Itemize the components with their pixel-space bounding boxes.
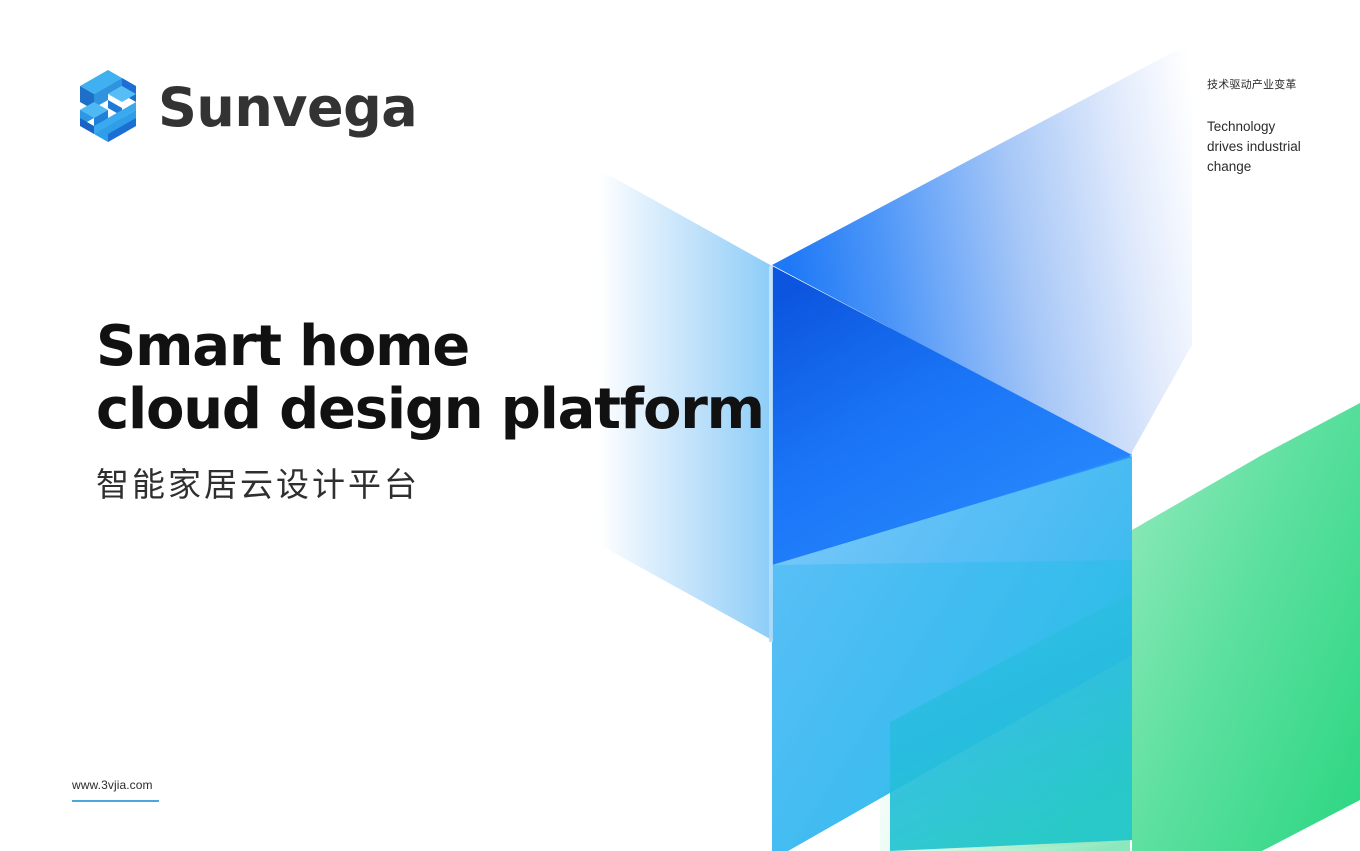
iso-panel-bottom-mint — [900, 840, 1130, 851]
iso-face-cyan-body — [890, 592, 1132, 851]
page-subtitle: 智能家居云设计平台 — [96, 465, 796, 505]
iso-panel-upper-right — [772, 42, 1192, 457]
iso-face-bright-blue — [772, 266, 1132, 851]
brand-logo[interactable]: Sunvega — [72, 66, 417, 146]
footer-url[interactable]: www.3vjia.com — [72, 778, 159, 802]
tagline-chinese: 技术驱动产业变革 — [1207, 78, 1347, 93]
iso-panel-bottom-mint-main — [880, 655, 1132, 851]
iso-face-cyan-top — [772, 560, 1132, 851]
sunvega-logo-icon — [72, 66, 144, 146]
tagline-block: 技术驱动产业变革 Technology drives industrial ch… — [1207, 78, 1347, 176]
brand-name: Sunvega — [158, 81, 417, 135]
tagline-english: Technology drives industrial change — [1207, 117, 1347, 176]
iso-panel-right-green — [1132, 403, 1360, 851]
url-underline-rule — [72, 800, 159, 802]
page-title: Smart home cloud design platform — [96, 316, 796, 441]
website-url-text: www.3vjia.com — [72, 778, 159, 792]
headline-block: Smart home cloud design platform 智能家居云设计… — [96, 316, 796, 505]
iso-face-sky-blue — [772, 457, 1132, 851]
iso-face-deep-blue-wedge — [772, 266, 1132, 565]
